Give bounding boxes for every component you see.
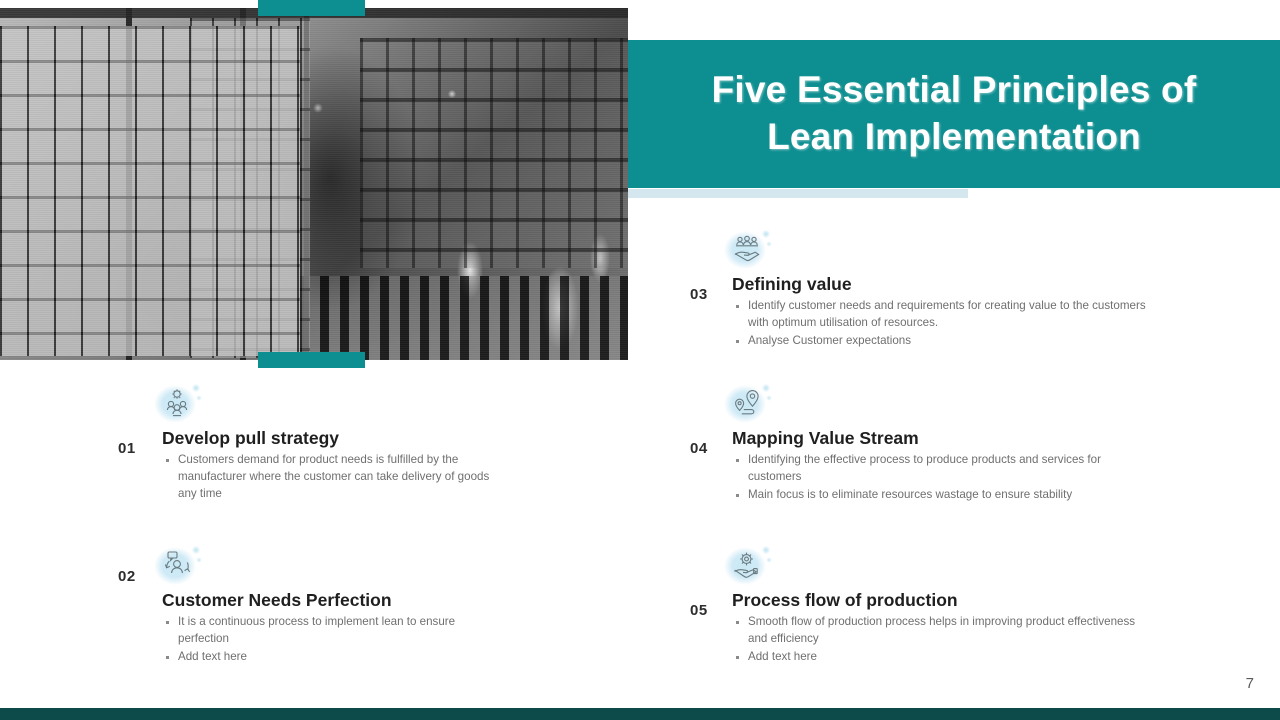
principle-title-05: Process flow of production [732, 590, 958, 611]
principle-bullets-04: Identifying the effective process to pro… [734, 452, 1154, 504]
people-gear-icon [154, 382, 202, 426]
title-banner: Five Essential Principles of Lean Implem… [628, 40, 1280, 188]
principle-number-04: 04 [690, 440, 708, 457]
bullet-item: Add text here [734, 649, 1144, 666]
people-on-hand-icon [724, 228, 772, 272]
principle-title-02: Customer Needs Perfection [162, 590, 392, 611]
customer-support-refresh-icon [154, 544, 202, 588]
bullet-item: Add text here [164, 649, 494, 666]
principle-title-03: Defining value [732, 274, 852, 295]
accent-bar-top [258, 0, 365, 16]
principle-number-02: 02 [118, 568, 136, 585]
principle-number-03: 03 [690, 286, 708, 303]
principle-number-05: 05 [690, 602, 708, 619]
bullet-item: Analyse Customer expectations [734, 333, 1154, 350]
title-underline-bar [628, 189, 968, 198]
principle-bullets-03: Identify customer needs and requirements… [734, 298, 1154, 350]
bullet-item: Identify customer needs and requirements… [734, 298, 1154, 332]
page-number: 7 [1246, 675, 1254, 692]
factory-photo-image [0, 8, 628, 360]
principle-bullets-02: It is a continuous process to implement … [164, 614, 494, 666]
bullet-item: Smooth flow of production process helps … [734, 614, 1144, 648]
bullet-item: Main focus is to eliminate resources was… [734, 487, 1154, 504]
accent-bar-bottom [258, 352, 365, 368]
principle-bullets-01: Customers demand for product needs is fu… [164, 452, 502, 503]
footer-bar [0, 708, 1280, 720]
principle-bullets-05: Smooth flow of production process helps … [734, 614, 1144, 666]
principle-title-01: Develop pull strategy [162, 428, 339, 449]
bullet-item: It is a continuous process to implement … [164, 614, 494, 648]
principle-number-01: 01 [118, 440, 136, 457]
bullet-item: Identifying the effective process to pro… [734, 452, 1154, 486]
gear-on-hand-icon [724, 544, 772, 588]
map-pins-route-icon [724, 382, 772, 426]
principle-title-04: Mapping Value Stream [732, 428, 919, 449]
page-title: Five Essential Principles of Lean Implem… [694, 67, 1215, 160]
bullet-item: Customers demand for product needs is fu… [164, 452, 502, 502]
factory-photo [0, 8, 628, 360]
